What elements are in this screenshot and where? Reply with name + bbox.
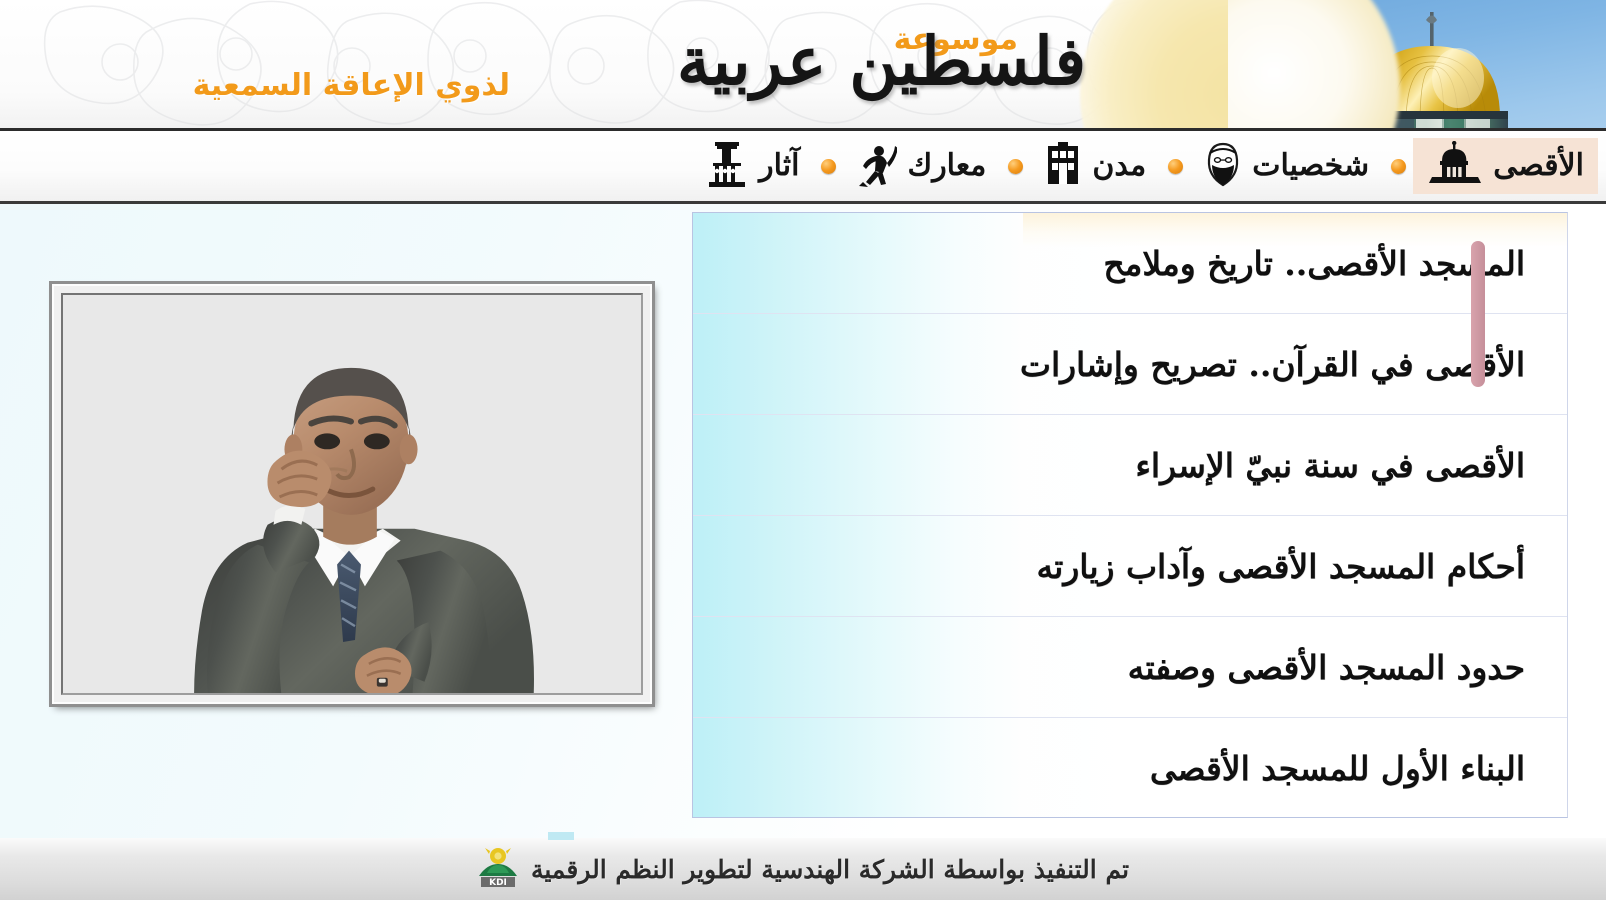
nav-item-battles[interactable]: معارك [843,138,1000,194]
navigation-items: الأقصى شخصيات [689,131,1606,201]
list-item-label: المسجد الأقصى.. تاريخ وملامح [1103,244,1525,283]
nav-separator-2 [1160,159,1190,174]
lens-flare-glow [1228,0,1400,128]
sign-language-interpreter-video[interactable] [63,295,641,693]
nav-label-personalities: شخصيات [1252,151,1369,181]
list-item-label: الأقصى في القرآن.. تصريح وإشارات [1020,345,1525,384]
application-window: موسوعة فلسطين عربية لذوي الإعاقة السمعية [0,0,1606,900]
kdi-company-logo: KDI [477,845,519,893]
nav-separator-3 [1000,159,1030,174]
orange-dot-icon [1008,159,1023,174]
topics-list: المسجد الأقصى.. تاريخ وملامح الأقصى في ا… [693,213,1567,817]
main-navigation-bar: الأقصى شخصيات [0,128,1606,204]
list-item[interactable]: حدود المسجد الأقصى وصفته [693,617,1567,718]
list-item[interactable]: أحكام المسجد الأقصى وآداب زيارته [693,516,1567,617]
ancient-ruins-icon [703,140,749,192]
list-item[interactable]: البناء الأول للمسجد الأقصى [693,718,1567,818]
nav-label-antiquities: آثار [759,151,799,181]
list-item[interactable]: الأقصى في سنة نبيّ الإسراء [693,415,1567,516]
nav-item-personalities[interactable]: شخصيات [1190,138,1383,194]
page-footer: تم التنفيذ بواسطة الشركة الهندسية لتطوير… [0,838,1606,900]
list-item-label: أحكام المسجد الأقصى وآداب زيارته [1036,547,1525,586]
nav-item-cities[interactable]: مدن [1030,138,1160,194]
page-title: فلسطين عربية [677,22,1086,100]
nav-separator-4 [813,159,843,174]
sign-language-video-frame[interactable] [52,284,652,704]
list-item-label: حدود المسجد الأقصى وصفته [1128,648,1525,687]
interpreter-figure [63,295,641,693]
vertical-scrollbar-track[interactable] [1471,213,1485,818]
nav-separator-1 [1383,159,1413,174]
city-building-icon [1044,141,1082,191]
orange-dot-icon [1391,159,1406,174]
footer-notch-decoration [548,832,574,840]
page-subtitle: لذوي الإعاقة السمعية [193,68,510,103]
orange-dot-icon [821,159,836,174]
fighter-figure-icon [857,141,897,191]
topics-list-panel: المسجد الأقصى.. تاريخ وملامح الأقصى في ا… [692,212,1568,818]
dome-of-the-rock-photo [1228,0,1606,128]
bearded-person-icon [1204,141,1242,191]
orange-dot-icon [1168,159,1183,174]
page-header: موسوعة فلسطين عربية لذوي الإعاقة السمعية [0,0,1606,128]
svg-text:KDI: KDI [489,878,507,888]
nav-item-antiquities[interactable]: آثار [689,138,813,194]
list-item-label: البناء الأول للمسجد الأقصى [1150,749,1525,788]
vertical-scrollbar-thumb[interactable] [1471,241,1485,387]
video-bezel [61,293,643,695]
list-item-label: الأقصى في سنة نبيّ الإسراء [1135,446,1525,485]
list-item[interactable]: المسجد الأقصى.. تاريخ وملامح [693,213,1567,314]
footer-credit-text: تم التنفيذ بواسطة الشركة الهندسية لتطوير… [531,855,1129,884]
dome-mosque-icon [1427,141,1483,191]
nav-label-alaqsa: الأقصى [1493,151,1584,181]
nav-label-battles: معارك [907,151,986,181]
content-area: المسجد الأقصى.. تاريخ وملامح الأقصى في ا… [0,204,1606,838]
list-item[interactable]: الأقصى في القرآن.. تصريح وإشارات [693,314,1567,415]
nav-label-cities: مدن [1092,151,1146,181]
nav-item-alaqsa[interactable]: الأقصى [1413,138,1598,194]
